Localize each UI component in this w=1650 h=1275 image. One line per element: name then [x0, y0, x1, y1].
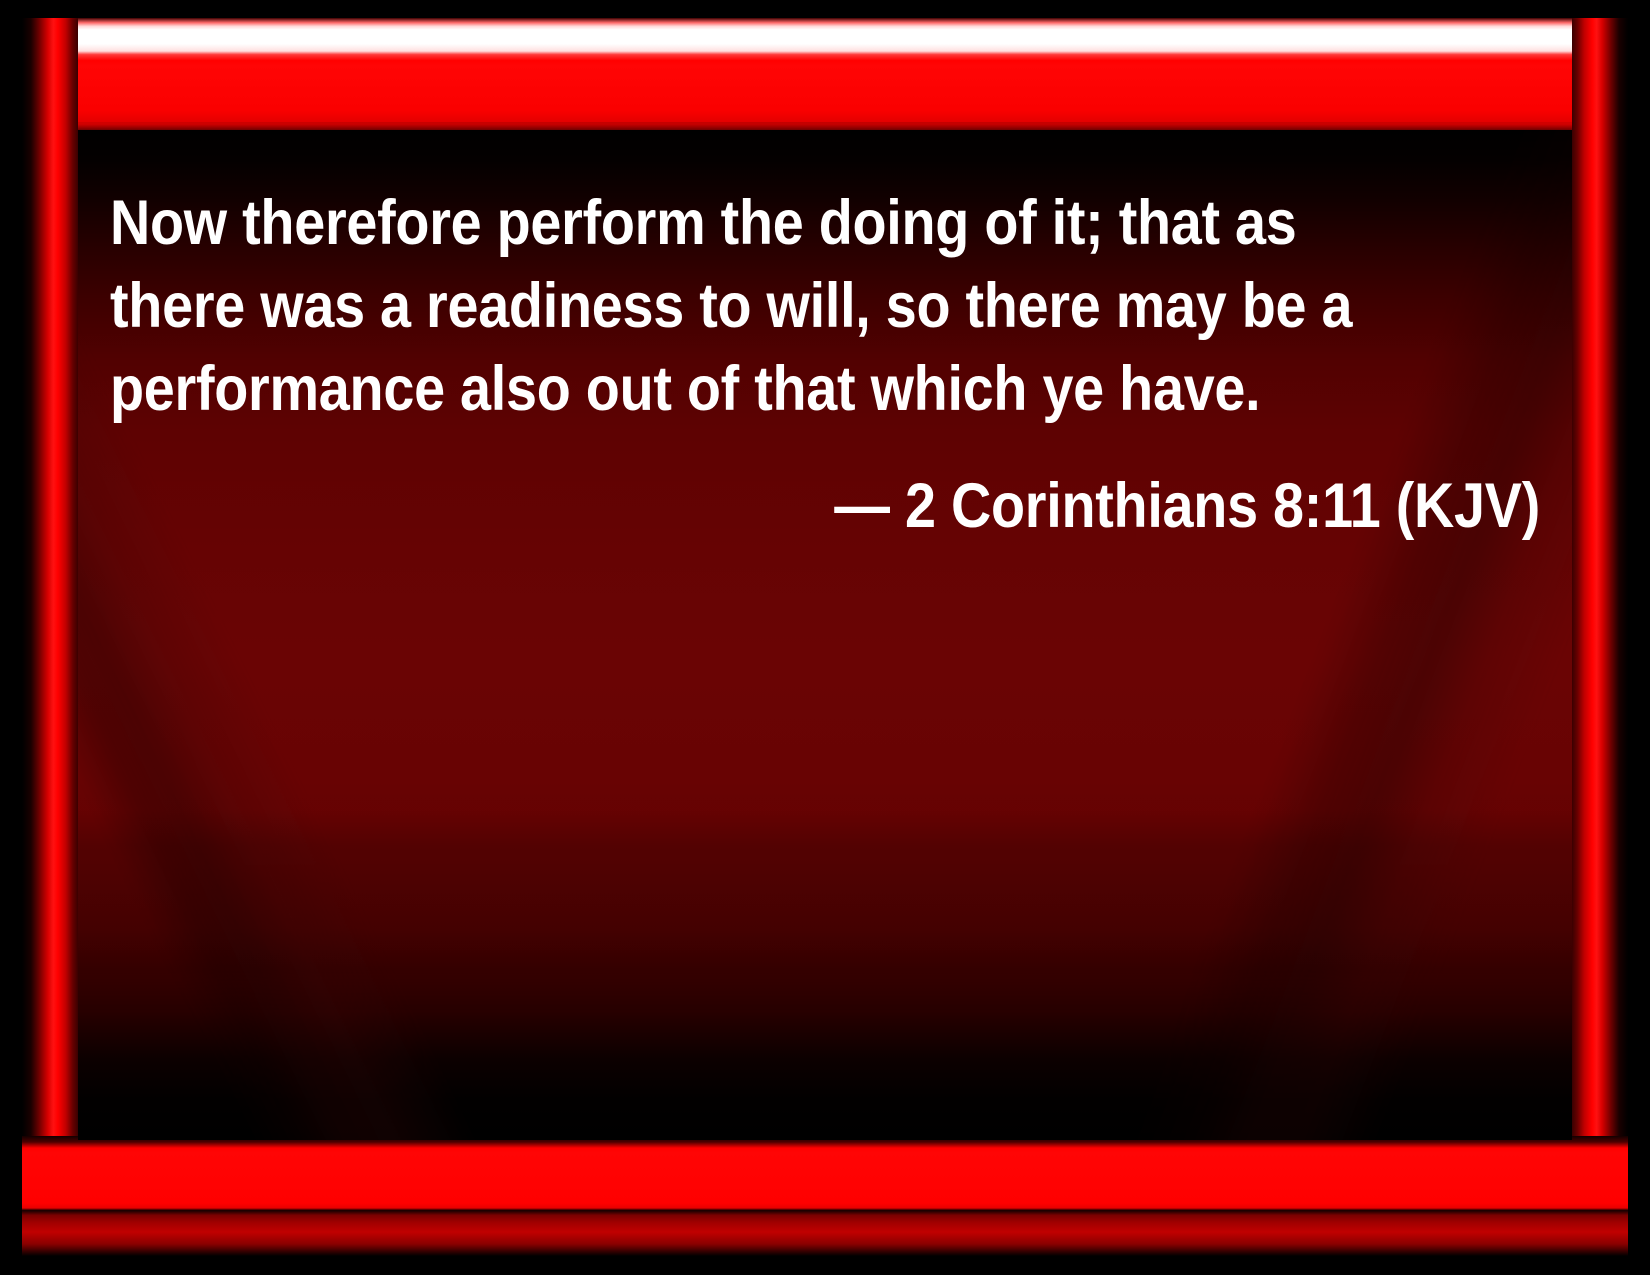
verse-block: Now therefore perform the doing of it; t… — [110, 182, 1540, 548]
verse-text: Now therefore perform the doing of it; t… — [110, 182, 1376, 431]
right-border-rail — [1572, 18, 1628, 1256]
slide-frame: Now therefore perform the doing of it; t… — [22, 18, 1628, 1256]
verse-slide: Now therefore perform the doing of it; t… — [0, 0, 1650, 1275]
bottom-border-bar — [22, 1136, 1628, 1256]
verse-citation: — 2 Corinthians 8:11 (KJV) — [274, 431, 1540, 548]
top-border-bar — [22, 18, 1628, 136]
lower-tonal-band — [78, 810, 1572, 1010]
left-border-rail — [22, 18, 78, 1256]
slide-canvas: Now therefore perform the doing of it; t… — [78, 130, 1572, 1140]
